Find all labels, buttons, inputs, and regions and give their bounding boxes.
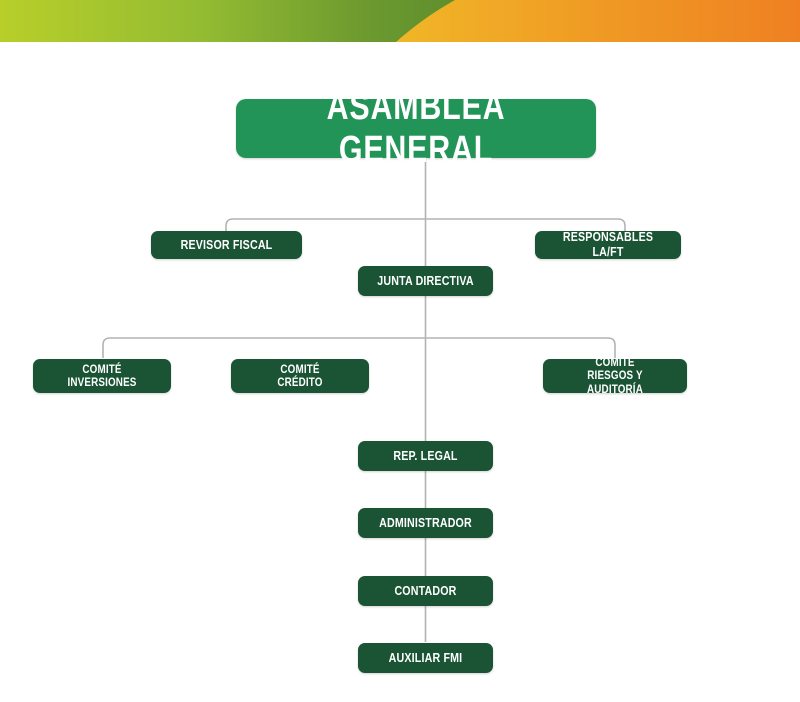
- node-responsables-la-ft[interactable]: RESPONSABLES LA/FT: [535, 231, 681, 259]
- branch-level-2: [103, 338, 615, 358]
- node-comite-riesgos-y-auditoria[interactable]: COMITÉ RIESGOS Y AUDITORÍA: [543, 359, 687, 393]
- node-auxiliar-fmi[interactable]: AUXILIAR FMI: [358, 643, 493, 673]
- node-label: COMITÉ RIESGOS Y AUDITORÍA: [563, 356, 668, 396]
- node-asamblea-general[interactable]: ASAMBLEA GENERAL: [236, 99, 596, 158]
- node-label: COMITÉ INVERSIONES: [52, 363, 152, 390]
- node-label: ASAMBLEA GENERAL: [278, 86, 553, 171]
- node-label: RESPONSABLES LA/FT: [555, 230, 662, 259]
- org-chart: ASAMBLEA GENERAL REVISOR FISCAL RESPONSA…: [0, 0, 800, 702]
- node-rep-legal[interactable]: REP. LEGAL: [358, 441, 493, 471]
- node-label: AUXILIAR FMI: [377, 651, 475, 666]
- node-label: COMITÉ CRÉDITO: [250, 363, 350, 390]
- node-revisor-fiscal[interactable]: REVISOR FISCAL: [151, 231, 302, 259]
- node-junta-directiva[interactable]: JUNTA DIRECTIVA: [358, 266, 493, 296]
- node-contador[interactable]: CONTADOR: [358, 576, 493, 606]
- node-administrador[interactable]: ADMINISTRADOR: [358, 508, 493, 538]
- node-comite-inversiones[interactable]: COMITÉ INVERSIONES: [33, 359, 171, 393]
- node-comite-credito[interactable]: COMITÉ CRÉDITO: [231, 359, 369, 393]
- node-label: ADMINISTRADOR: [377, 516, 475, 531]
- node-label: CONTADOR: [377, 584, 475, 599]
- node-label: JUNTA DIRECTIVA: [377, 274, 475, 289]
- node-label: REVISOR FISCAL: [171, 238, 282, 253]
- node-label: REP. LEGAL: [377, 449, 475, 464]
